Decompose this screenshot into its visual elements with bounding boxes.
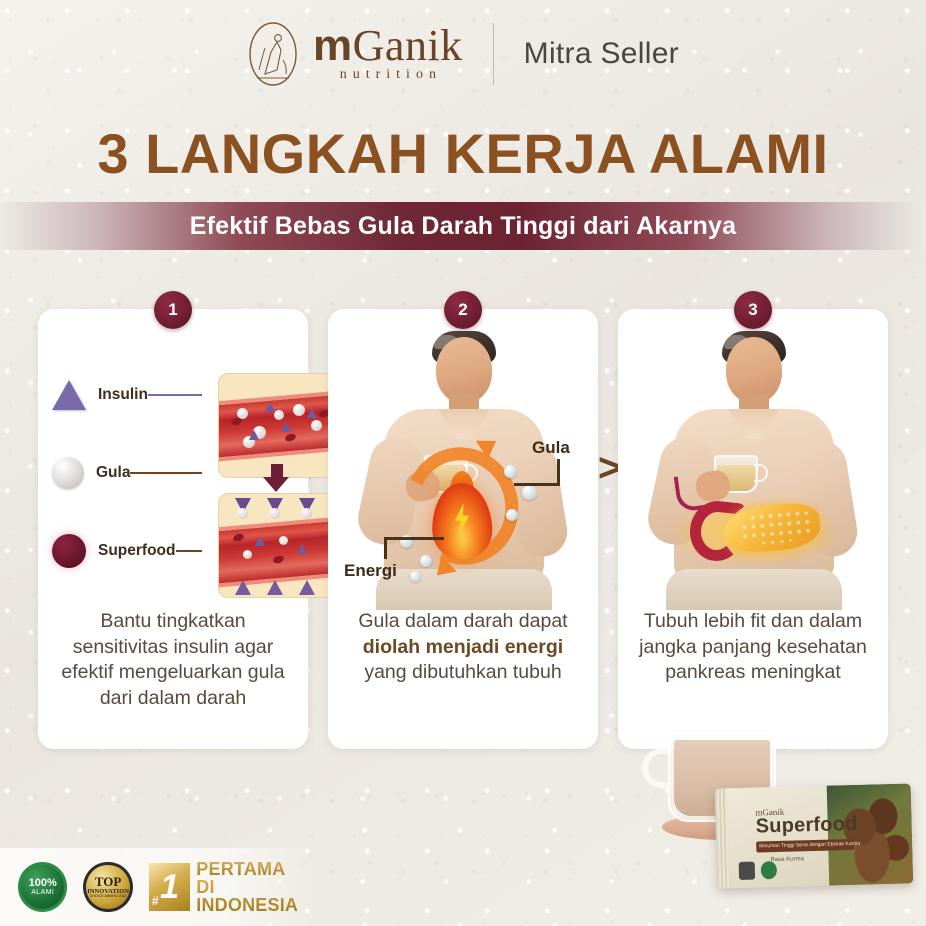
step-card-2[interactable]: 2 bbox=[328, 309, 598, 749]
legend-list: Insulin Gula Superfood bbox=[52, 367, 202, 601]
badge-top-line1: TOP bbox=[95, 875, 122, 889]
step-1-caption: Bantu tingkatkan sensitivitas insulin ag… bbox=[52, 609, 294, 712]
legend-label-gula: Gula bbox=[96, 464, 130, 482]
header-divider bbox=[493, 23, 494, 85]
sachet-product-name: Superfood bbox=[755, 813, 857, 839]
page-header: mGanik nutrition Mitra Seller bbox=[0, 0, 926, 108]
label-gula: Gula bbox=[532, 438, 570, 458]
sugar-dot bbox=[311, 420, 322, 431]
brand-name: mGanik bbox=[313, 25, 463, 67]
legend-item-insulin: Insulin bbox=[52, 367, 202, 423]
gula-leader-line bbox=[514, 483, 560, 486]
sugar-molecule bbox=[506, 509, 518, 521]
triangle-icon bbox=[52, 380, 86, 410]
caption-bold: diolah menjadi energi bbox=[363, 636, 563, 658]
sugar-molecule bbox=[504, 465, 517, 478]
badge-pertama-text: PERTAMA DI INDONESIA bbox=[196, 860, 320, 914]
step-2-illustration: Gula Energi bbox=[328, 325, 598, 605]
person-figure bbox=[618, 325, 888, 610]
subtitle-text: Efektif Bebas Gula Darah Tinggi dari Aka… bbox=[190, 212, 736, 241]
step-3-caption: Tubuh lebih fit dan dalam jangka panjang… bbox=[632, 609, 874, 686]
vessel-shape bbox=[218, 516, 336, 587]
insulin-exit-icon bbox=[235, 580, 251, 595]
sugar-dot bbox=[237, 508, 248, 519]
badge-alami-label: ALAMI bbox=[31, 889, 54, 896]
legend-item-superfood: Superfood bbox=[52, 523, 202, 579]
step-3-illustration bbox=[618, 325, 888, 605]
insulin-triangle bbox=[255, 536, 265, 546]
badge-alami-percent: 100% bbox=[29, 878, 57, 890]
step-1-illustration: Insulin Gula Superfood bbox=[38, 325, 308, 605]
step-2-caption: Gula dalam darah dapat diolah menjadi en… bbox=[342, 609, 584, 686]
brand-name-m: m bbox=[313, 21, 353, 70]
blood-vessel-panel-after bbox=[218, 493, 336, 598]
sugar-dot bbox=[274, 410, 284, 420]
leader-line-gula bbox=[130, 472, 202, 474]
brand-name-rest: Ganik bbox=[353, 21, 463, 70]
sachet-zipper bbox=[715, 788, 730, 888]
step-number-badge-3: 3 bbox=[734, 291, 772, 329]
badge-top-innovation: TOP INNOVATION CHOICE AWARD 2022 bbox=[83, 862, 132, 912]
sugar-molecule bbox=[522, 485, 537, 500]
circle-icon bbox=[52, 534, 86, 568]
badge-number-value: 1 bbox=[160, 868, 179, 907]
energi-leader-elbow bbox=[384, 537, 387, 559]
step-card-1[interactable]: 1 Insulin Gula Superfood bbox=[38, 309, 308, 749]
product-shot: mGanik Superfood Minuman Tinggi Serat de… bbox=[626, 720, 926, 900]
badge-pertama-line1: PERTAMA bbox=[196, 860, 320, 878]
badge-100-alami: 100% ALAMI bbox=[18, 862, 67, 912]
sugar-molecule bbox=[410, 571, 421, 582]
person-lap bbox=[666, 569, 842, 610]
down-arrow-icon bbox=[263, 477, 289, 492]
brand-row: mGanik nutrition Mitra Seller bbox=[247, 20, 679, 88]
hash-icon: # bbox=[152, 894, 159, 908]
bpom-seal-icon bbox=[761, 861, 777, 879]
person-lap bbox=[376, 569, 552, 610]
insulin-exit-icon bbox=[267, 580, 283, 595]
sugar-dot bbox=[301, 508, 312, 519]
product-sachet: mGanik Superfood Minuman Tinggi Serat de… bbox=[715, 783, 914, 888]
sphere-icon bbox=[52, 457, 84, 489]
sugar-dot bbox=[269, 508, 280, 519]
page-title: 3 LANGKAH KERJA ALAMI bbox=[0, 126, 926, 182]
brand-wordmark: mGanik nutrition bbox=[313, 25, 463, 84]
insulin-triangle bbox=[307, 408, 317, 418]
halal-seal-icon bbox=[739, 862, 755, 880]
badge-top-line3: CHOICE AWARD 2022 bbox=[90, 895, 127, 899]
insulin-triangle bbox=[265, 402, 275, 412]
blood-vessel-panel-before bbox=[218, 373, 336, 478]
sugar-dot bbox=[293, 404, 305, 416]
insulin-triangle bbox=[281, 422, 291, 432]
brand-subtitle: nutrition bbox=[334, 67, 442, 83]
step-number-badge-2: 2 bbox=[444, 291, 482, 329]
gula-leader-elbow bbox=[557, 459, 560, 485]
label-energi: Energi bbox=[344, 561, 397, 581]
badge-number-one: # 1 bbox=[149, 863, 190, 911]
sugar-dot bbox=[279, 536, 288, 545]
subtitle-banner: Efektif Bebas Gula Darah Tinggi dari Aka… bbox=[0, 202, 926, 250]
sugar-molecule bbox=[420, 555, 432, 567]
insulin-exit-icon bbox=[299, 580, 315, 595]
insulin-triangle bbox=[249, 430, 259, 440]
partner-label: Mitra Seller bbox=[524, 37, 679, 71]
badge-pertama-line2: DI INDONESIA bbox=[196, 878, 320, 914]
sugar-dot bbox=[243, 550, 252, 559]
energi-leader-line bbox=[386, 537, 444, 540]
badge-pertama-di-indonesia: # 1 PERTAMA DI INDONESIA bbox=[149, 860, 320, 914]
step-card-3[interactable]: 3 Tubuh lebih fit da bbox=[618, 309, 888, 749]
legend-item-gula: Gula bbox=[52, 445, 202, 501]
legend-label-insulin: Insulin bbox=[98, 386, 148, 404]
certification-badges: 100% ALAMI TOP INNOVATION CHOICE AWARD 2… bbox=[0, 848, 320, 926]
steps-row: > > 1 Insulin Gula Superfood bbox=[0, 300, 926, 760]
caption-post: yang dibutuhkan tubuh bbox=[364, 661, 561, 683]
brand-seal-icon bbox=[247, 20, 299, 88]
step-number-badge-1: 1 bbox=[154, 291, 192, 329]
leader-line-superfood bbox=[176, 550, 203, 552]
legend-label-superfood: Superfood bbox=[98, 542, 176, 560]
leader-line-insulin bbox=[148, 394, 202, 396]
sachet-variant: Rasa Kurma bbox=[771, 856, 805, 863]
insulin-triangle bbox=[297, 544, 307, 554]
caption-pre: Gula dalam darah dapat bbox=[358, 610, 567, 632]
